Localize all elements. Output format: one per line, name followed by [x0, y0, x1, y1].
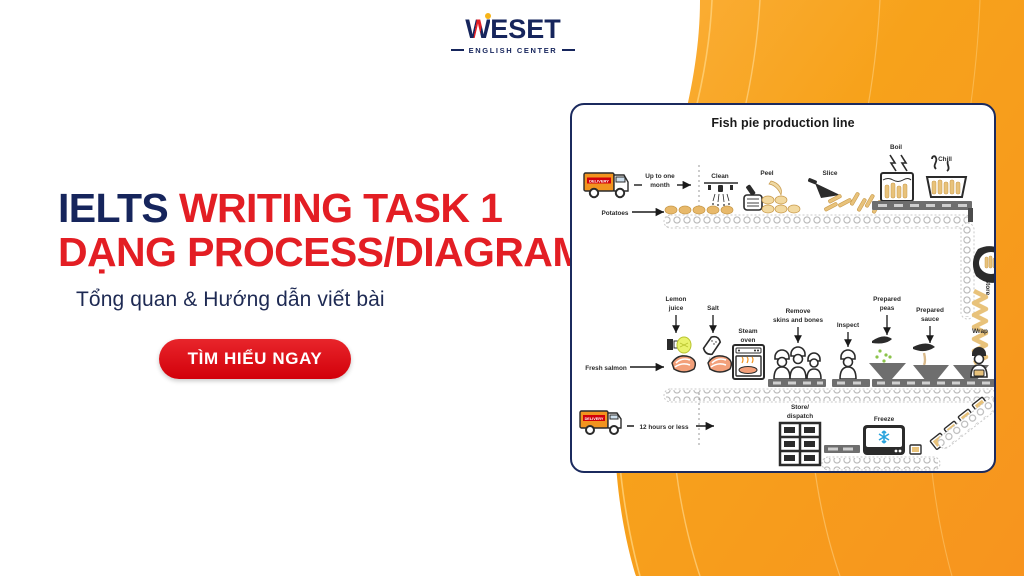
- salmon-fillet-items: [672, 356, 731, 372]
- cta-learn-more-button[interactable]: TÌM HIỂU NGAY: [159, 339, 351, 379]
- conveyor-belt-vertical: [961, 223, 974, 319]
- headline-ielts: IELTS: [58, 185, 168, 231]
- label-remove-skins-2: skins and bones: [773, 317, 824, 324]
- conveyor-belt-top: [664, 215, 972, 228]
- logo-tagline: ENGLISH CENTER: [451, 46, 576, 55]
- chill-tray-icon: [927, 177, 966, 197]
- label-fresh-salmon: Fresh salmon: [585, 365, 627, 372]
- inspector-icon: [840, 350, 856, 379]
- delivery-truck-bottom-icon: DELIVERY: [580, 411, 621, 434]
- logo-rule-right: [562, 49, 575, 51]
- peas-pour-icon: [869, 336, 906, 379]
- logo-eset-text: ESET: [490, 16, 561, 43]
- label-lemon-juice-2: juice: [668, 305, 684, 312]
- peeler-icon: [744, 181, 782, 210]
- label-up-to-one-month-2: month: [650, 182, 670, 189]
- label-salt: Salt: [707, 305, 720, 312]
- cta-button-label: TÌM HIỂU NGAY: [188, 349, 323, 369]
- label-lemon-juice-1: Lemon: [666, 296, 687, 303]
- weset-logo[interactable]: W ESET ENGLISH CENTER: [447, 14, 579, 56]
- label-clean: Clean: [711, 173, 728, 180]
- label-wrap: Wrap: [972, 328, 988, 335]
- sauce-pour-icon: [913, 344, 949, 382]
- knife-icon: [808, 178, 840, 198]
- freezer-icon: [863, 425, 905, 455]
- svg-text:DELIVERY: DELIVERY: [589, 179, 609, 184]
- label-steam-oven-1: Steam: [738, 328, 757, 335]
- label-peel: Peel: [760, 170, 773, 177]
- logo-wordmark: W ESET: [465, 16, 561, 43]
- label-chill: Chill: [938, 156, 952, 163]
- logo-tagline-text: ENGLISH CENTER: [469, 46, 558, 55]
- label-slice: Slice: [823, 170, 838, 177]
- label-12-hours-or-less: 12 hours or less: [639, 424, 688, 431]
- conveyor-belt-middle: [664, 389, 996, 402]
- process-diagram-card: Fish pie production line DELIVERY: [570, 103, 996, 473]
- label-store: Store: [984, 279, 991, 296]
- headline-line-2: DẠNG PROCESS/DIAGRAM: [58, 230, 578, 274]
- conveyor-belt-diagonal: [936, 394, 996, 451]
- page-subtitle: Tổng quan & Hướng dẫn viết bài: [76, 288, 385, 312]
- label-remove-skins-1: Remove: [786, 308, 811, 315]
- label-freeze: Freeze: [874, 416, 895, 423]
- warehouse-shelf-icon: [780, 423, 820, 465]
- label-steam-oven-2: oven: [741, 337, 756, 344]
- label-potatoes: Potatoes: [602, 210, 629, 217]
- workers-remove-icon: [774, 347, 821, 379]
- logo-w-letter: W: [465, 16, 490, 43]
- steam-oven-icon: [733, 345, 764, 379]
- label-prepared-peas-2: peas: [880, 305, 895, 312]
- delivery-truck-top-icon: DELIVERY: [584, 173, 628, 197]
- label-prepared-sauce-2: sauce: [921, 316, 940, 323]
- headline-writing-task: WRITING TASK 1: [179, 185, 502, 231]
- label-prepared-sauce-1: Prepared: [916, 307, 944, 314]
- label-up-to-one-month-1: Up to one: [645, 173, 675, 180]
- logo-rule-left: [451, 49, 464, 51]
- boil-pot-icon: [881, 155, 913, 201]
- label-store-dispatch-2: dispatch: [787, 413, 813, 420]
- store-oven-icon: [973, 246, 996, 283]
- fish-pie-production-line-diagram: DELIVERY Up to one month Potatoes Clean: [572, 105, 996, 473]
- clean-sprayer-icon: [708, 185, 733, 206]
- potato-items: [665, 206, 733, 214]
- label-boil: Boil: [890, 144, 902, 151]
- headline-line-1: IELTS WRITING TASK 1: [58, 186, 578, 230]
- headline-block: IELTS WRITING TASK 1 DẠNG PROCESS/DIAGRA…: [58, 186, 578, 275]
- label-inspect: Inspect: [837, 322, 860, 329]
- logo-yellow-dot: [485, 13, 491, 19]
- conveyor-belt-bottom: [822, 457, 940, 470]
- poster-canvas: W ESET ENGLISH CENTER IELTS WRITING TASK…: [0, 0, 1024, 576]
- wrap-worker-icon: [971, 347, 987, 377]
- label-store-dispatch-1: Store/: [791, 404, 809, 411]
- svg-text:DELIVERY: DELIVERY: [585, 417, 604, 421]
- peeled-potato-items: [762, 196, 800, 213]
- label-prepared-peas-1: Prepared: [873, 296, 901, 303]
